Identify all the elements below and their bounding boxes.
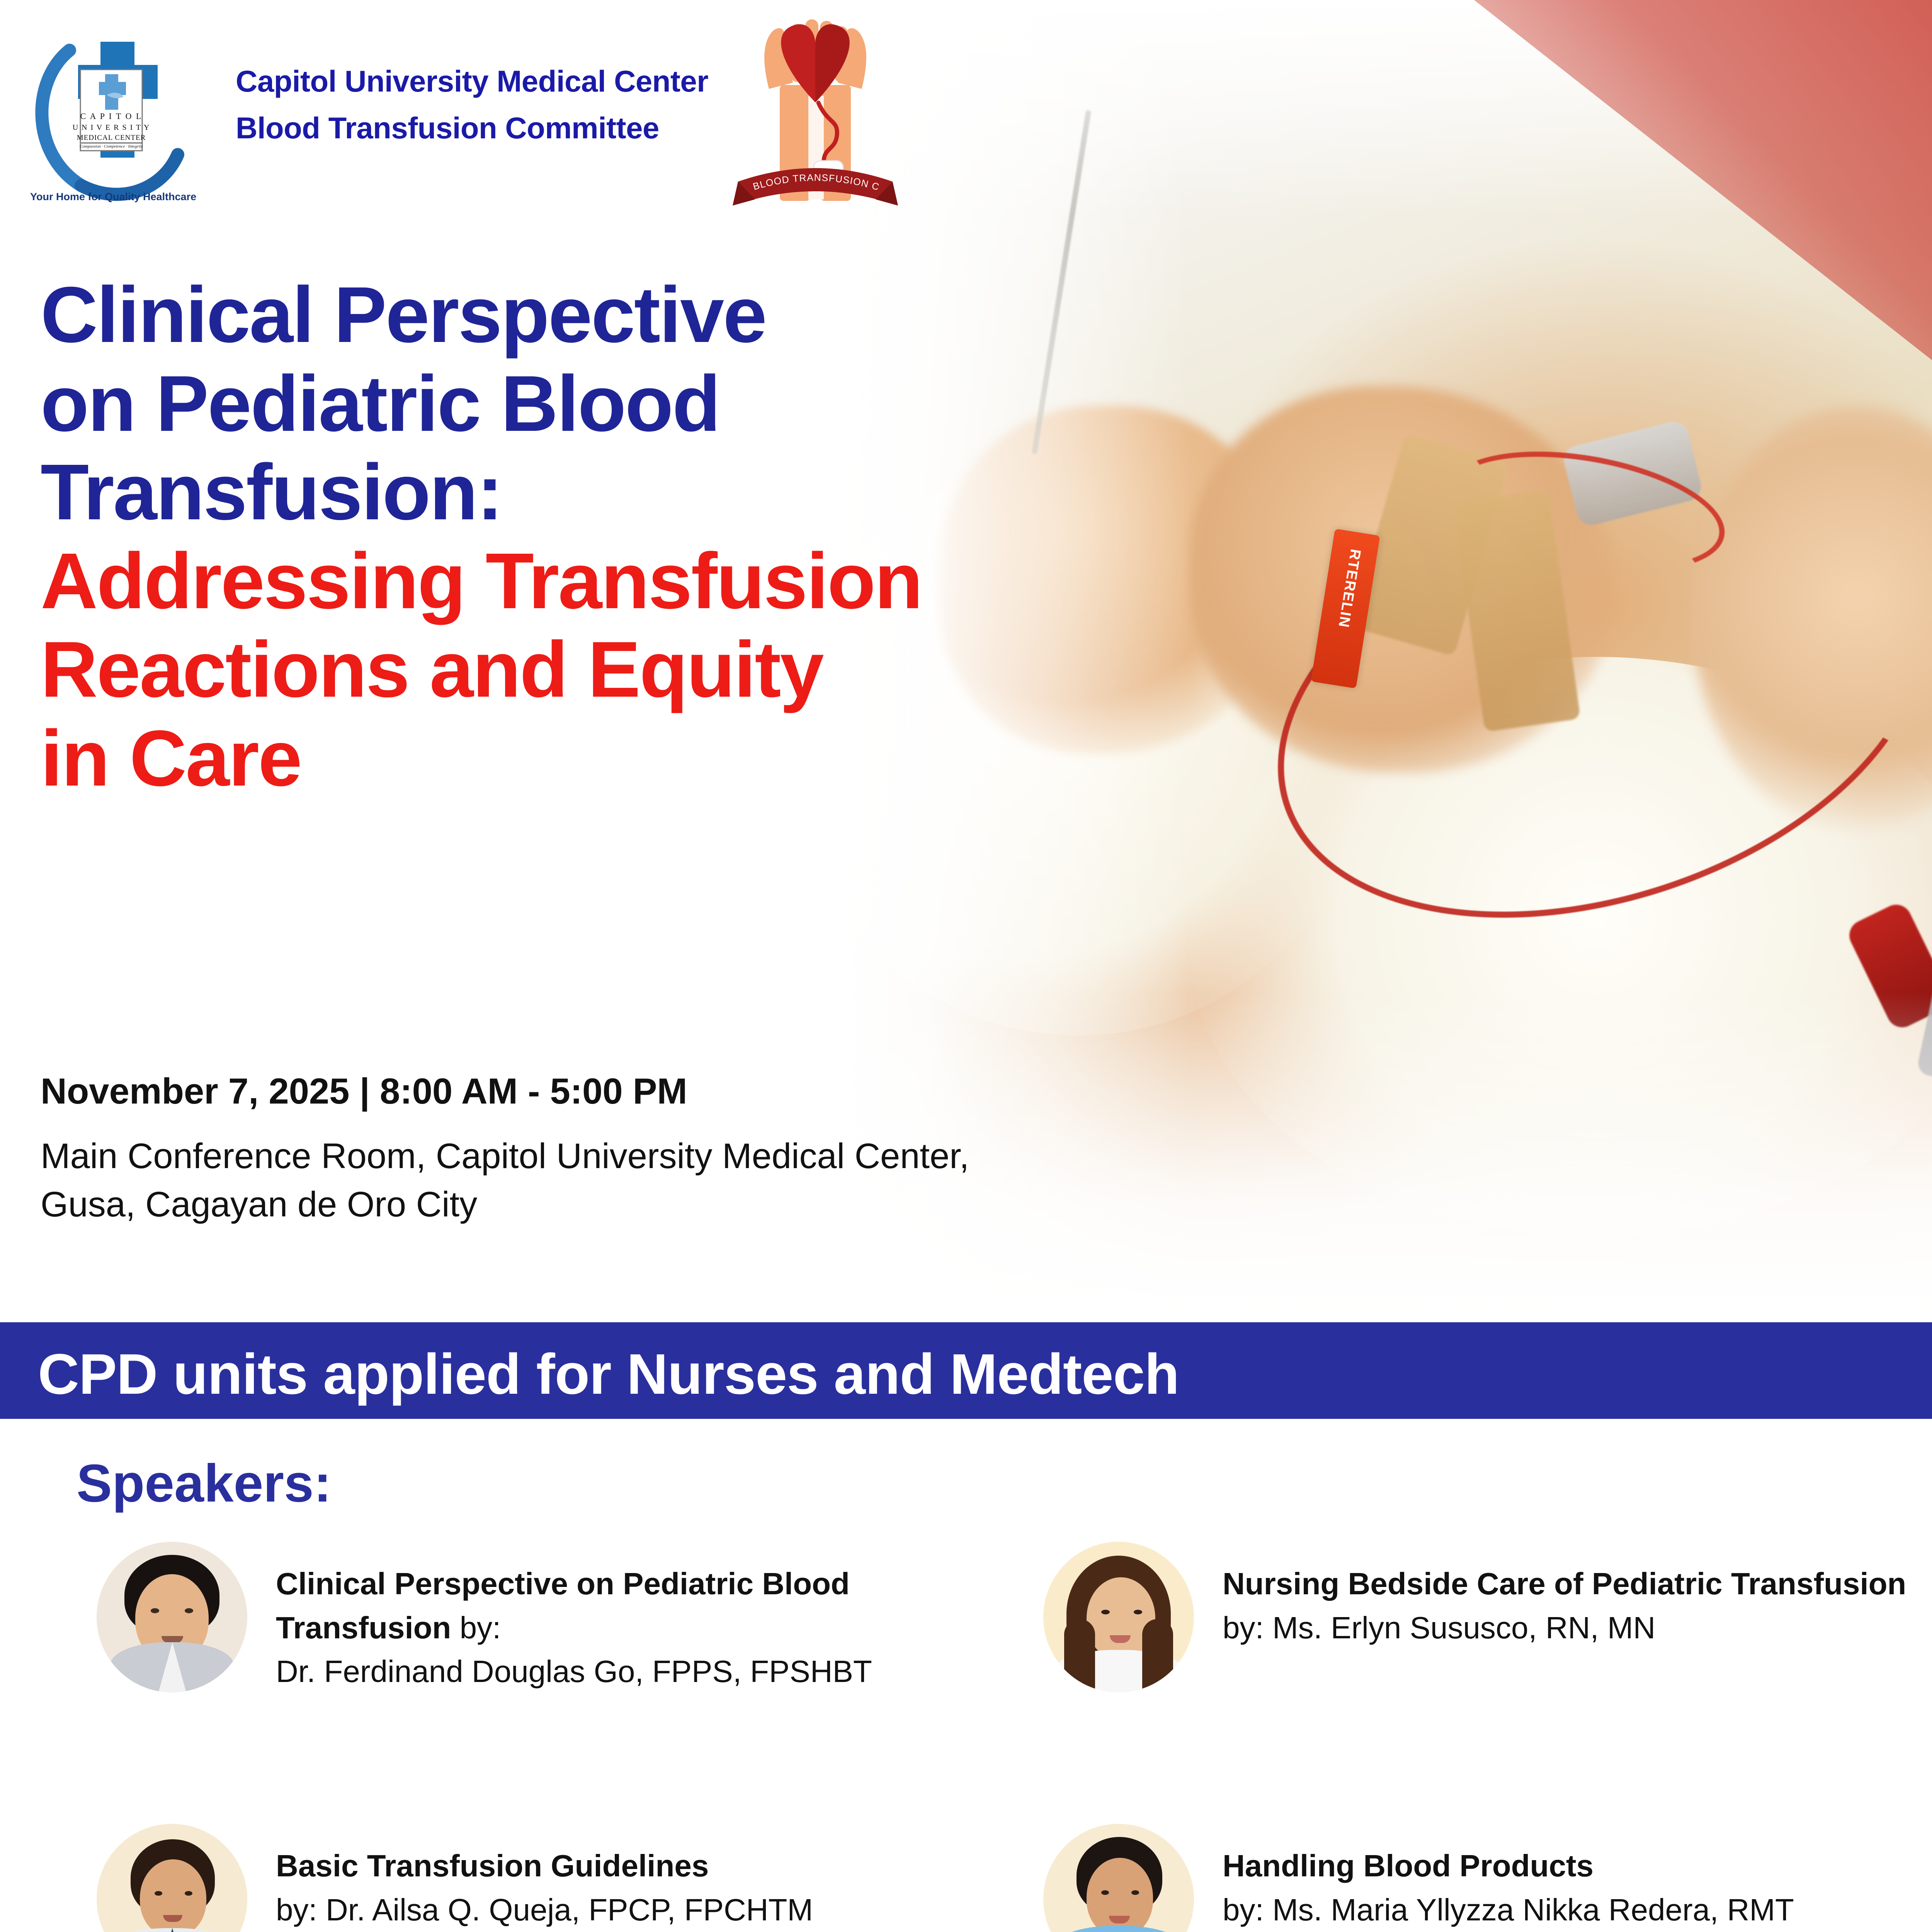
cpd-banner: CPD units applied for Nurses and Medtech: [0, 1322, 1932, 1419]
event-datetime: November 7, 2025 | 8:00 AM - 5:00 PM: [41, 1070, 687, 1112]
avatar: [97, 1542, 247, 1692]
speaker-card: Basic Transfusion Guidelines by: Dr. Ail…: [97, 1824, 966, 1932]
speaker-topic: Nursing Bedside Care of Pediatric Transf…: [1223, 1562, 1906, 1606]
title-line-3: Transfusion:: [41, 448, 1258, 537]
svg-text:U N I V E R S I T Y: U N I V E R S I T Y: [73, 123, 150, 132]
title-line-2: on Pediatric Blood: [41, 359, 1258, 448]
speaker-info: Basic Transfusion Guidelines by: Dr. Ail…: [276, 1824, 813, 1932]
avatar: [97, 1824, 247, 1932]
cumc-logo: C A P I T O L U N I V E R S I T Y MEDICA…: [23, 15, 236, 209]
event-venue-line2: Gusa, Cagayan de Oro City: [41, 1180, 969, 1229]
speaker-card: Handling Blood Products by: Ms. Maria Yl…: [1043, 1824, 1932, 1932]
event-poster: RTERELIN C A P I T O L U N I V E R S I T…: [0, 0, 1932, 1932]
speaker-topic: Basic Transfusion Guidelines: [276, 1844, 813, 1888]
iv-line-label-text: RTERELIN: [1335, 548, 1364, 629]
title-line-1: Clinical Perspective: [41, 270, 1258, 359]
speaker-name: by: Dr. Ailsa Q. Queja, FPCP, FPCHTM: [276, 1888, 813, 1932]
speaker-topic: Clinical Perspective on Pediatric Blood …: [276, 1562, 966, 1650]
speaker-card: Nursing Bedside Care of Pediatric Transf…: [1043, 1542, 1932, 1692]
event-venue-line1: Main Conference Room, Capitol University…: [41, 1132, 969, 1180]
speaker-card: Clinical Perspective on Pediatric Blood …: [97, 1542, 966, 1694]
logo-tagline: Your Home for Quality Healthcare: [30, 191, 196, 202]
avatar: [1043, 1542, 1194, 1692]
speakers-heading: Speakers:: [77, 1453, 332, 1514]
avatar: [1043, 1824, 1194, 1932]
svg-text:MEDICAL CENTER: MEDICAL CENTER: [77, 134, 146, 142]
header-org-line2: Blood Transfusion Committee: [236, 105, 708, 151]
blood-transfusion-committee-logo: BLOOD TRANSFUSION COMMITTEE: [723, 8, 908, 209]
speaker-info: Nursing Bedside Care of Pediatric Transf…: [1223, 1542, 1906, 1650]
speaker-name: by: Ms. Erlyn Sususco, RN, MN: [1223, 1606, 1906, 1650]
poster-header: C A P I T O L U N I V E R S I T Y MEDICA…: [0, 0, 889, 232]
speaker-name: by: Ms. Maria Yllyzza Nikka Redera, RMT: [1223, 1888, 1794, 1932]
cpd-banner-text: CPD units applied for Nurses and Medtech: [38, 1342, 1179, 1407]
speaker-info: Handling Blood Products by: Ms. Maria Yl…: [1223, 1824, 1794, 1932]
title-line-5: Reactions and Equity: [41, 625, 1258, 714]
svg-text:Compassion · Competence · Inte: Compassion · Competence · Integrity: [80, 144, 143, 149]
title-line-4: Addressing Transfusion: [41, 537, 1258, 626]
speaker-info: Clinical Perspective on Pediatric Blood …: [276, 1542, 966, 1694]
title-line-6: in Care: [41, 714, 1258, 803]
header-org-line1: Capitol University Medical Center: [236, 58, 708, 105]
speaker-topic: Handling Blood Products: [1223, 1844, 1794, 1888]
speaker-name: Dr. Ferdinand Douglas Go, FPPS, FPSHBT: [276, 1650, 966, 1694]
header-org-title: Capitol University Medical Center Blood …: [236, 58, 708, 151]
event-venue: Main Conference Room, Capitol University…: [41, 1132, 969, 1229]
poster-title: Clinical Perspective on Pediatric Blood …: [41, 270, 1258, 803]
svg-text:C A P I T O L: C A P I T O L: [80, 111, 143, 121]
